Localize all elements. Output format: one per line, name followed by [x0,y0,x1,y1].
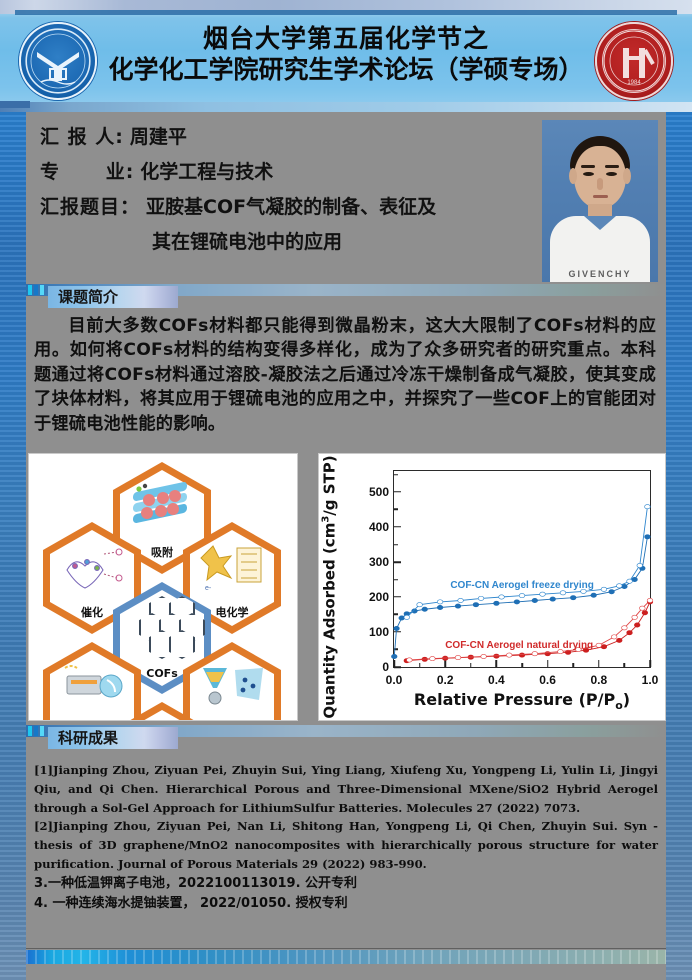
chart-annotation-natural-drying: COF-CN Aerogel natural drying [445,640,593,651]
abstract-body-text: 目前大多数COFs材料都只能得到微晶粉末，这大大限制了COFs材料的应用。如何将… [34,314,656,436]
right-decorative-stripe [666,0,692,980]
patent-item-2: 4. 一种连续海水提铀装置， 2022/01050. 授权专利 [34,894,658,915]
figures-row: 吸附 [26,453,666,719]
results-section-header: 科研成果 [26,725,666,747]
header-top-accent-bar [15,10,677,15]
hex-diagram: 吸附 [35,460,291,714]
reference-item-1: [1]Jianping Zhou, Ziyuan Pei, Zhuyin Sui… [34,761,658,817]
chart-annotation-freeze-drying: COF-CN Aerogel freeze drying [450,580,594,591]
header-bottom-accent [0,101,30,108]
membrane-separation-art-icon [197,660,267,712]
gas-storage-art-icon [127,720,197,721]
chart-xtick-2: 0.4 [488,673,505,687]
adsorption-art-icon [127,480,197,532]
poster-root: 1984 烟台大学第五届化学节之 化学化工学院研究生学术论坛（学硕专场） 汇 报… [0,0,692,980]
chart-xtick-1: 0.2 [437,673,454,687]
chart-xtick-3: 0.6 [539,673,556,687]
topic-value-line2: 其在锂硫电池中的应用 [152,227,510,254]
header-title-line2: 化学化工学院研究生学术论坛（学硕专场） [100,55,592,86]
presenter-photo: GIVENCHY [542,120,658,282]
chart-ytick-400: 400 [369,520,389,534]
chart-plot-area: 0 100 200 300 400 500 0.0 0.2 0.4 0.6 [393,470,651,668]
major-row: 专 业: 化学工程与技术 [40,157,510,184]
yantai-university-logo-icon [19,22,97,100]
photo-shirt-brand-text: GIVENCHY [542,269,658,279]
chart-y-axis-label: Quantity Adsorbed (cm3/g STP) [318,454,343,720]
abstract-section-title: 课题简介 [48,286,178,308]
footer-divider [26,948,666,949]
topic-value-line1: 亚胺基COF气凝胶的制备、表征及 [146,192,436,219]
cofs-applications-figure: 吸附 [28,453,298,721]
cofs-lattice-icon [133,596,191,652]
results-section-title: 科研成果 [48,727,178,749]
header-title-block: 烟台大学第五届化学节之 化学化工学院研究生学术论坛（学硕专场） [100,24,592,85]
chart-ytick-500: 500 [369,485,389,499]
chart-ytick-100: 100 [369,625,389,639]
reporter-value: 周建平 [130,122,187,149]
catalysis-art-icon [57,540,127,592]
chart-xtick-5: 1.0 [642,673,659,687]
chart-xtick-4: 0.8 [590,673,607,687]
chart-x-axis-label: Relative Pressure (P/Po) [379,690,665,712]
section-marker-blocks-icon-2 [28,726,44,736]
topic-row: 汇报题目： 亚胺基COF气凝胶的制备、表征及 [40,192,510,219]
poster-body: 汇 报 人: 周建平 专 业: 化学工程与技术 汇报题目： 亚胺基COF气凝胶的… [26,112,666,950]
presenter-info-block: 汇 报 人: 周建平 专 业: 化学工程与技术 汇报题目： 亚胺基COF气凝胶的… [26,114,666,282]
major-label: 专 业: [40,157,134,184]
left-decorative-stripe [0,0,26,980]
results-section: 科研成果 [1]Jianping Zhou, Ziyuan Pei, Zhuyi… [26,725,666,915]
chart-ytick-0: 0 [382,660,389,674]
presenter-fields: 汇 报 人: 周建平 专 业: 化学工程与技术 汇报题目： 亚胺基COF气凝胶的… [40,122,510,254]
header-title-line1: 烟台大学第五届化学节之 [100,24,592,55]
adsorption-isotherm-figure: Quantity Adsorbed (cm3/g STP) 0 100 200 … [318,453,666,721]
topic-label: 汇报题目： [40,192,140,219]
energy-art-icon [57,660,127,712]
svg-text:1984: 1984 [627,80,641,86]
major-value: 化学工程与技术 [140,157,273,184]
reporter-row: 汇 报 人: 周建平 [40,122,510,149]
svg-text:e-: e- [205,585,212,592]
poster-header: 1984 烟台大学第五届化学节之 化学化工学院研究生学术论坛（学硕专场） [0,0,692,112]
abstract-section: 课题简介 目前大多数COFs材料都只能得到微晶粉末，这大大限制了COFs材料的应… [26,284,666,436]
chart-series-layer [394,471,650,667]
patent-item-1: 3.一种低温钾离子电池，2022100113019. 公开专利 [34,874,658,895]
footer-gradient-bar [26,950,666,964]
chemistry-college-logo-icon: 1984 [595,22,673,100]
chart-xtick-0: 0.0 [386,673,403,687]
reporter-label: 汇 报 人: [40,122,124,149]
reference-item-2: [2]Jianping Zhou, Ziyuan Pei, Nan Li, Sh… [34,817,658,873]
isotherm-chart: Quantity Adsorbed (cm3/g STP) 0 100 200 … [319,454,665,720]
section-marker-blocks-icon [28,285,44,295]
abstract-section-header: 课题简介 [26,284,666,306]
header-bottom-gradient-bar [0,102,692,112]
chart-ytick-200: 200 [369,590,389,604]
electrochemistry-art-icon: e- [197,540,267,592]
chart-ytick-300: 300 [369,555,389,569]
